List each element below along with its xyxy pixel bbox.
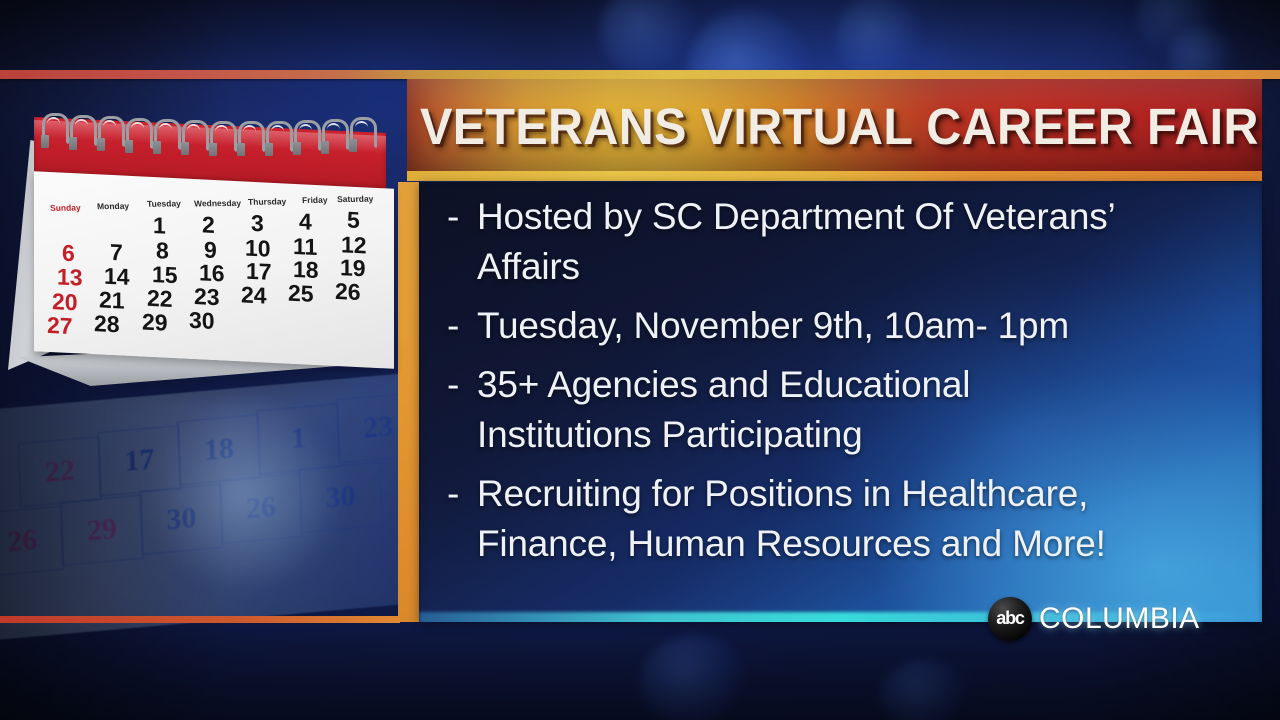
spiral-ring-tab [153,141,161,154]
bullet-line-1: Tuesday, November 9th, 10am- 1pm [477,305,1069,346]
calendar-date: 5 [347,207,360,235]
spiral-ring-tab [349,139,357,152]
broadcast-graphic: 22 17 18 1 23 26 29 30 26 30 [0,0,1280,720]
list-item: - Tuesday, November 9th, 10am- 1pm [447,301,1247,351]
station-logo: abc COLUMBIA [988,596,1188,642]
spiral-ring-tab [125,140,133,153]
calendar-dayname-monday: Monday [97,201,130,211]
list-item: - 35+ Agencies and Educational Instituti… [447,360,1247,460]
calendar-date: 24 [241,281,267,309]
content-panel: - Hosted by SC Department Of Veterans’ A… [419,182,1262,622]
calendar-date: 26 [335,278,361,306]
top-accent-stripe [0,70,1280,79]
station-name: COLUMBIA [1039,602,1200,636]
calendar-grid: Sunday Monday Tuesday Wednesday Thursday… [34,165,394,373]
calendar-date: 27 [47,312,73,340]
spiral-ring-tab [237,143,245,156]
calendar-date: 3 [251,210,264,238]
bullet-list: - Hosted by SC Department Of Veterans’ A… [447,192,1247,578]
spiral-ring-tab [321,141,329,154]
bullet-dash: - [447,469,459,519]
spiral-ring-tab [209,143,217,156]
bullet-line-1: 35+ Agencies and Educational [477,364,970,405]
bullet-line-2: Institutions Participating [477,410,1247,460]
calendar-dayname-friday: Friday [302,195,328,205]
calendar-dayname-tuesday: Tuesday [147,198,181,208]
bullet-line-1: Recruiting for Positions in Healthcare, [477,473,1088,514]
calendar-date: 28 [94,310,120,338]
calendar-date: 30 [189,307,215,335]
spiral-ring-tab [69,137,77,150]
bottom-accent-line [0,616,400,623]
spiral-ring-tab [293,142,301,155]
calendar-date: 1 [153,212,166,240]
calendar-date: 2 [202,211,215,239]
calendar-date: 4 [299,208,312,236]
calendar-dayname-thursday: Thursday [248,196,287,206]
page-title: VETERANS VIRTUAL CAREER FAIR [420,96,1209,158]
bullet-dash: - [447,192,459,242]
calendar-dayname-wednesday: Wednesday [194,198,242,209]
bullet-line-2: Affairs [477,242,1247,292]
calendar-date: 13 [57,263,83,291]
spiral-ring-tab [97,138,105,151]
calendar-dayname-sunday: Sunday [50,203,81,213]
bullet-dash: - [447,360,459,410]
title-banner-underline [407,171,1262,181]
spiral-ring-tab [181,142,189,155]
bullet-line-2: Finance, Human Resources and More! [477,519,1247,569]
calendar-dayname-saturday: Saturday [337,194,374,204]
desk-calendar-graphic: Sunday Monday Tuesday Wednesday Thursday… [8,108,416,408]
calendar-date: 25 [288,280,314,308]
abc-logo-text: abc [996,609,1023,627]
bullet-dash: - [447,301,459,351]
bullet-line-1: Hosted by SC Department Of Veterans’ [477,196,1116,237]
list-item: - Hosted by SC Department Of Veterans’ A… [447,192,1247,292]
calendar-date: 29 [142,308,168,336]
list-item: - Recruiting for Positions in Healthcare… [447,469,1247,569]
spiral-ring-tab [41,135,49,148]
abc-logo-icon: abc [988,597,1032,641]
spiral-ring-tab [265,143,273,156]
